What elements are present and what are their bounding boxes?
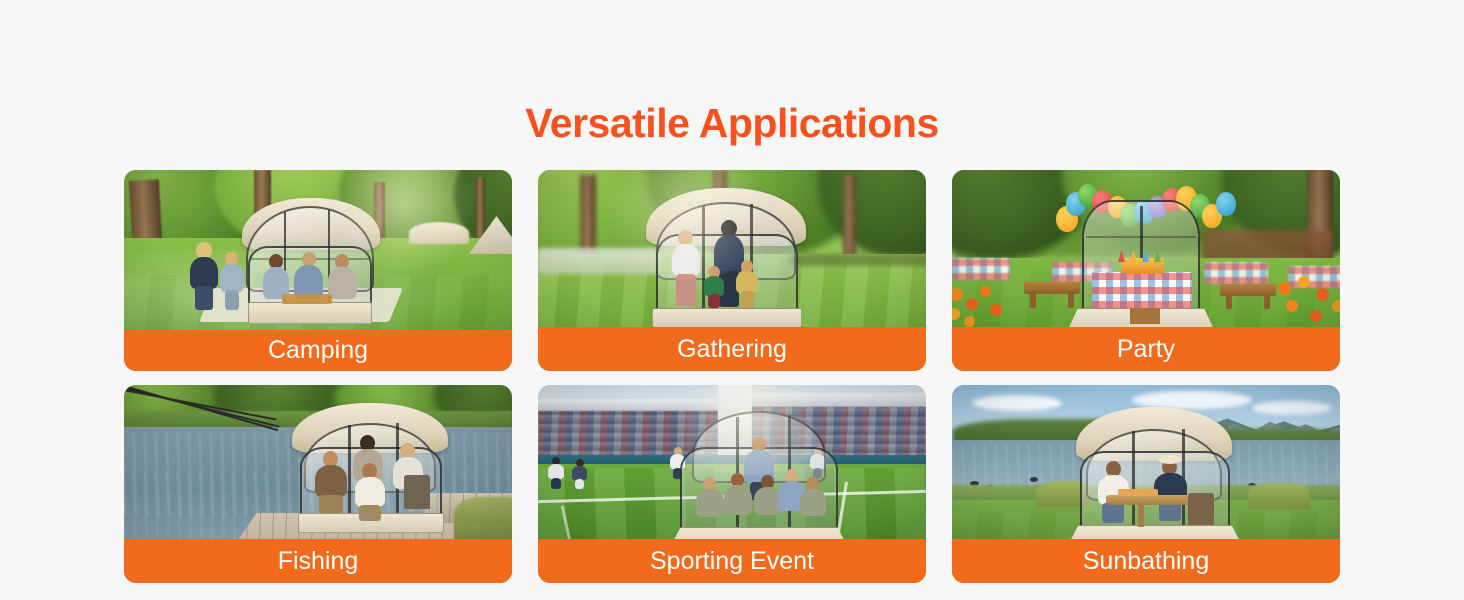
application-cards-grid: Camping	[124, 170, 1340, 583]
application-card-sporting-event[interactable]: Sporting Event	[538, 385, 926, 583]
card-label-camping: Camping	[124, 330, 512, 371]
card-label-gathering: Gathering	[538, 327, 926, 371]
versatile-applications-section: Versatile Applications	[0, 0, 1464, 600]
application-card-gathering[interactable]: Gathering	[538, 170, 926, 371]
card-label-fishing: Fishing	[124, 539, 512, 583]
application-card-camping[interactable]: Camping	[124, 170, 512, 371]
page-title: Versatile Applications	[0, 98, 1464, 148]
card-label-sunbathing: Sunbathing	[952, 539, 1340, 583]
application-card-sunbathing[interactable]: Sunbathing	[952, 385, 1340, 583]
card-label-sporting-event: Sporting Event	[538, 539, 926, 583]
application-card-party[interactable]: Party	[952, 170, 1340, 371]
application-card-fishing[interactable]: Fishing	[124, 385, 512, 583]
card-label-party: Party	[952, 327, 1340, 371]
